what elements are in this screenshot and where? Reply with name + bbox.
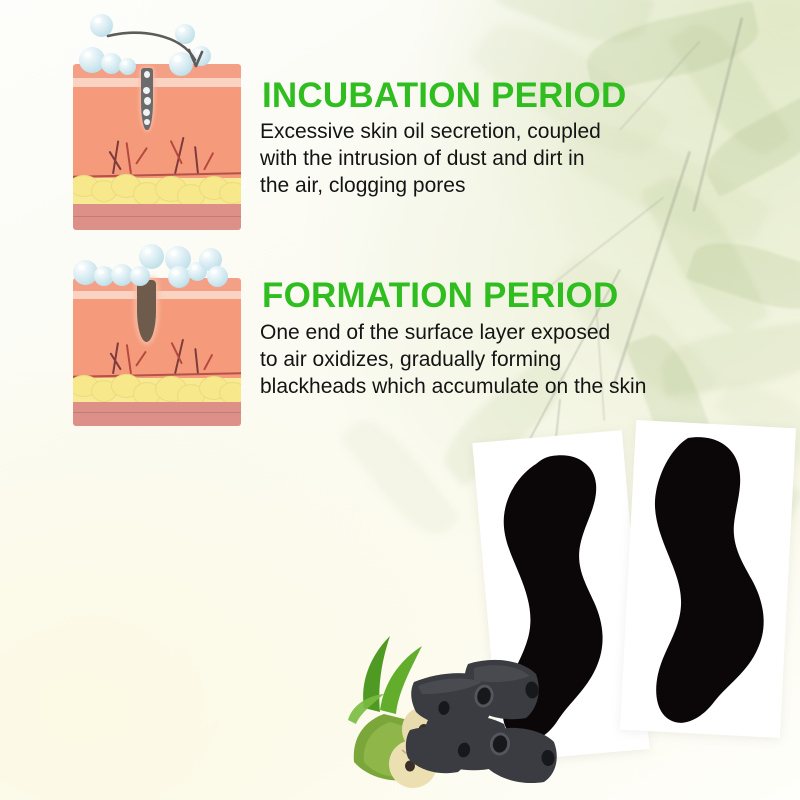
oil-droplet-bubble	[139, 244, 164, 269]
paragraph-line: One end of the surface layer exposed	[260, 320, 646, 347]
fat-lobule	[219, 382, 241, 404]
headline-formation-period: FORMATION PERIOD	[262, 276, 618, 316]
pore-clogged	[141, 68, 153, 130]
muscle-striation	[73, 216, 241, 217]
skin-cross-section-block	[73, 278, 241, 426]
skin-layer-epidermis-pale	[73, 291, 241, 299]
oil-droplet-bubble	[168, 266, 190, 288]
skin-layer-muscle	[73, 402, 241, 426]
skin-cross-section-block	[73, 64, 241, 230]
watermark-leaf	[685, 230, 800, 323]
paragraph-line: Excessive skin oil secretion, coupled	[260, 119, 601, 146]
watermark-leaf	[639, 165, 770, 342]
skin-layer-dermis	[73, 87, 241, 180]
diagram-formation-period	[73, 236, 245, 428]
watermark-leaf	[339, 409, 461, 548]
oil-droplet-bubble	[130, 266, 150, 286]
sebum-particle	[143, 109, 150, 116]
blackhead-plug	[137, 280, 156, 342]
diagram-incubation-period	[73, 8, 245, 230]
skin-layer-dermis	[73, 299, 241, 379]
watermark-leaf	[696, 92, 800, 197]
paragraph-line: blackheads which accumulate on the skin	[260, 374, 646, 401]
watermark-branch	[619, 40, 701, 131]
paragraph-line: with the intrusion of dust and dirt in	[260, 146, 601, 173]
paragraph-line: to air oxidizes, gradually forming	[260, 347, 646, 374]
muscle-striation	[73, 412, 241, 413]
fat-lobule	[219, 182, 241, 204]
direction-arrow-icon	[105, 30, 217, 74]
oil-droplet-bubble	[207, 266, 228, 287]
paragraph-incubation-period: Excessive skin oil secretion, coupled wi…	[260, 119, 601, 200]
watermark-branch	[692, 17, 743, 212]
watermark-leaf	[494, 0, 656, 58]
paragraph-formation-period: One end of the surface layer exposed to …	[260, 320, 646, 401]
nose-pore-strip-right	[630, 434, 792, 734]
skin-layer-epidermis-pale	[73, 78, 241, 87]
sebum-particle	[144, 97, 151, 105]
bamboo-charcoal-ingredient	[318, 612, 568, 797]
sebum-particle	[144, 119, 150, 125]
watermark-leaf	[657, 319, 800, 397]
headline-incubation-period: INCUBATION PERIOD	[262, 76, 626, 116]
sebum-particle	[143, 87, 150, 94]
watermark-leaf	[667, 11, 792, 167]
product-infographic-poster: INCUBATION PERIOD Excessive skin oil sec…	[0, 0, 800, 800]
paragraph-line: the air, clogging pores	[260, 173, 601, 200]
